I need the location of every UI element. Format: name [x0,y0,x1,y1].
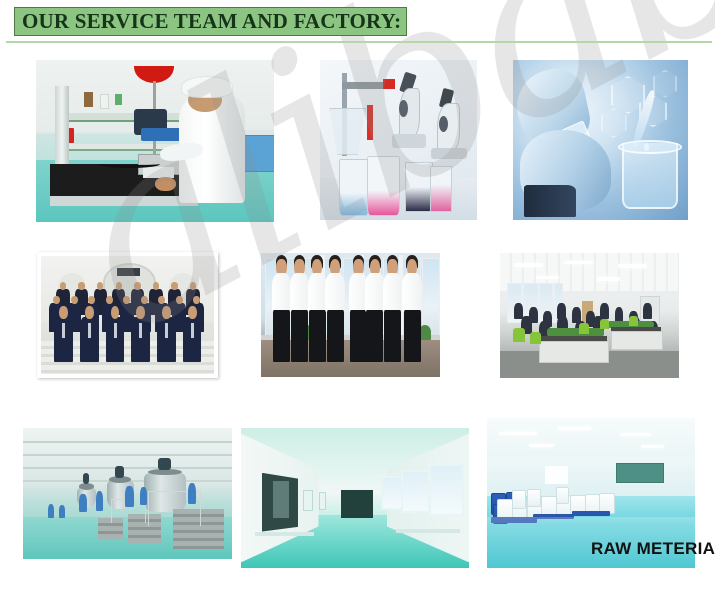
section-title-box: OUR SERVICE TEAM AND FACTORY: [14,7,407,36]
photo-detail [309,310,326,362]
photo-detail [556,487,569,504]
photo-detail [327,310,344,362]
photo-detail [365,273,385,312]
photo-detail [158,458,171,470]
photo-detail [273,310,290,362]
photo-detail [131,317,150,362]
photo-detail [48,504,54,518]
page-root: OUR SERVICE TEAM AND FACTORY: [0,0,715,596]
photo-detail [59,505,65,518]
photo-detail [54,317,73,362]
photo-detail [157,317,176,362]
photo-cleanroom-corridor [241,428,469,568]
photo-detail [325,273,345,312]
photo-detail [96,491,103,511]
photo-detail [383,273,403,312]
photo-sales-team [261,253,440,377]
photo-detail [643,303,652,319]
photo-detail [80,317,99,362]
photo-detail [140,487,147,505]
photo-detail [83,473,89,485]
photo-detail [600,319,609,329]
photo-lab-technician-workbench [36,60,274,222]
photo-detail [290,273,310,312]
photo-detail [115,466,124,478]
photo-detail [404,310,421,362]
photo-detail [272,273,292,362]
photo-detail [384,310,401,362]
photo-detail [579,323,590,334]
photo-detail [383,273,403,362]
page-title: OUR SERVICE TEAM AND FACTORY: [15,9,401,34]
photo-detail [402,273,422,312]
photo-detail [183,317,202,362]
photo-detail [402,273,422,362]
photo-detail [188,483,196,504]
photo-detail [308,273,328,312]
raw-material-label: RAW METERIAL [591,539,715,559]
photo-detail [366,310,383,362]
photo-detail [513,328,526,342]
photo-production-workshop [23,428,232,559]
photo-detail [512,490,526,509]
photo-detail [572,511,609,516]
photo-detail [290,273,310,362]
photo-detail [79,494,86,512]
photo-detail [527,489,541,508]
photo-detail [611,331,663,351]
photo-detail [125,486,133,507]
photo-detail [629,316,638,326]
photo-detail [308,273,328,362]
photo-detail [272,273,292,312]
photo-staff-group [37,252,218,378]
photo-detail [539,341,609,363]
photo-detail [365,273,385,362]
photo-detail [291,310,308,362]
photo-open-plan-office [500,253,679,378]
photo-detail [79,483,94,490]
photo-detail [530,332,541,345]
photo-detail [325,273,345,362]
photo-gloved-hands-pipette [513,60,688,220]
photo-microscopes-glassware [320,60,477,220]
header-divider [6,41,712,43]
photo-detail [106,317,125,362]
